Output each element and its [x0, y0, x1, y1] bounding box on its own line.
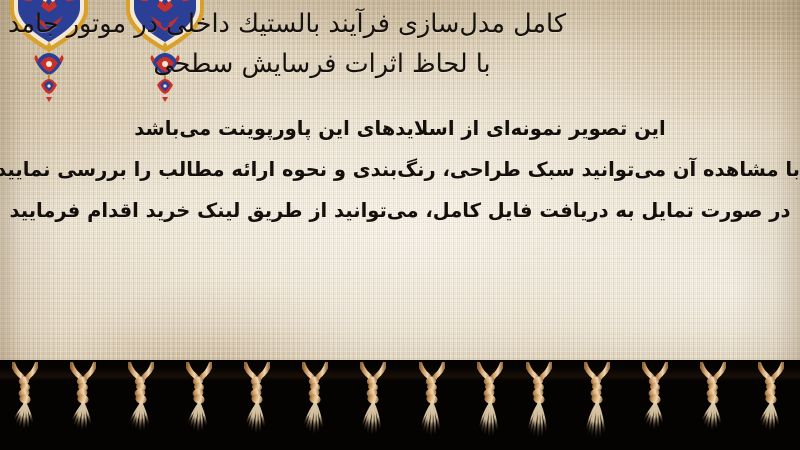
body-line-1: این تصویر نمونه‌ای از اسلایدهای این پاور…: [0, 108, 800, 149]
fringe-tassel: [419, 362, 445, 438]
fringe-tassel: [302, 362, 328, 438]
body-line-2: با مشاهده آن می‌توانید سبک طراحی، رنگ‌بن…: [0, 149, 800, 190]
fringe-tassel: [700, 362, 726, 438]
fringe-tassel: [128, 362, 154, 438]
fringe-tassel: [642, 362, 668, 438]
fringe-tassel: [360, 362, 386, 438]
fringe-tassel: [244, 362, 270, 438]
body-line-3: در صورت تمایل به دریافت فایل کامل، می‌تو…: [0, 190, 800, 231]
carpet-fringe-band: [0, 360, 800, 450]
fringe-tassel: [70, 362, 96, 438]
title-line-2: با لحاظ اثرات فرسایش سطحی: [8, 44, 786, 84]
slide-title: کامل مدل‌سازی فرآیند بالستیك داخلی در مو…: [0, 4, 800, 84]
fringe-tassel: [477, 362, 503, 438]
fringe-tassel: [12, 362, 38, 438]
title-line-1: کامل مدل‌سازی فرآیند بالستیك داخلی در مو…: [8, 4, 786, 44]
fringe-tassel: [758, 362, 784, 438]
slide-text-layer: کامل مدل‌سازی فرآیند بالستیك داخلی در مو…: [0, 0, 800, 372]
fringe-tassel: [584, 362, 610, 438]
slide-body: این تصویر نمونه‌ای از اسلایدهای این پاور…: [0, 108, 800, 231]
fringe-tassel: [526, 362, 552, 438]
presentation-slide: کامل مدل‌سازی فرآیند بالستیك داخلی در مو…: [0, 0, 800, 450]
fringe-tassel: [186, 362, 212, 438]
fringe-tassel-row: [0, 360, 800, 450]
